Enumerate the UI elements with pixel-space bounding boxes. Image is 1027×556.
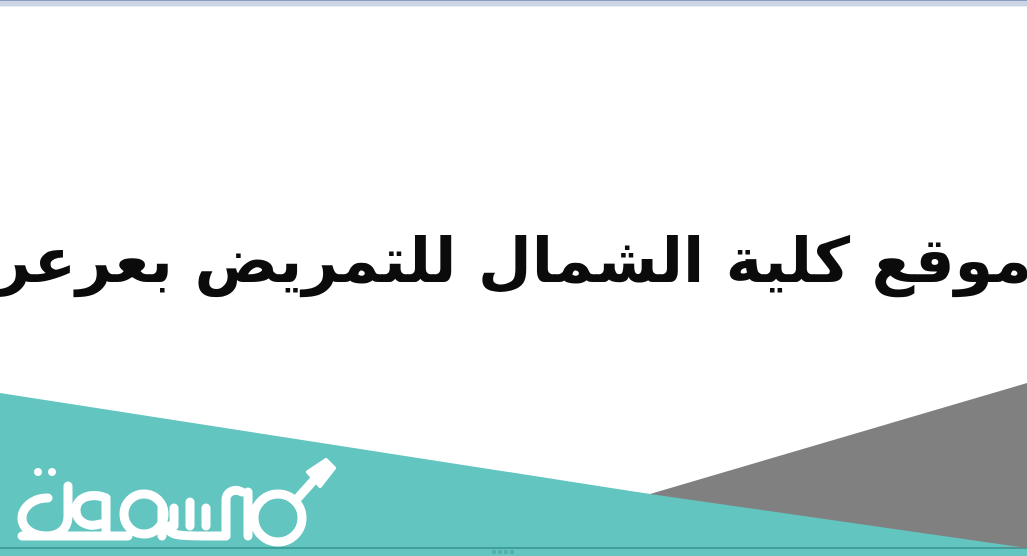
page-title: موقع كلية الشمال للتمريض بعرعر <box>0 224 1027 297</box>
page-title-container: موقع كلية الشمال للتمريض بعرعر <box>0 196 1027 326</box>
magnifying-glass-icon <box>254 460 334 542</box>
glyph-seen <box>168 502 226 536</box>
glyph-ta-marbuta <box>22 468 68 536</box>
window-top-bar-shadow <box>0 6 1027 7</box>
artifact-dot <box>498 550 502 554</box>
glyph-waw-1 <box>124 494 164 536</box>
artifact-dot <box>504 550 508 554</box>
brand-wordmark-moswoaa <box>8 452 338 548</box>
glyph-ain <box>76 496 106 536</box>
artifact-dot <box>492 550 496 554</box>
artifact-dot <box>510 550 514 554</box>
slide-canvas: موقع كلية الشمال للتمريض بعرعر <box>0 0 1027 556</box>
brand-watermark <box>8 452 338 548</box>
glyph-waw-2 <box>226 490 248 536</box>
bottom-pixel-artifacts <box>492 550 526 554</box>
